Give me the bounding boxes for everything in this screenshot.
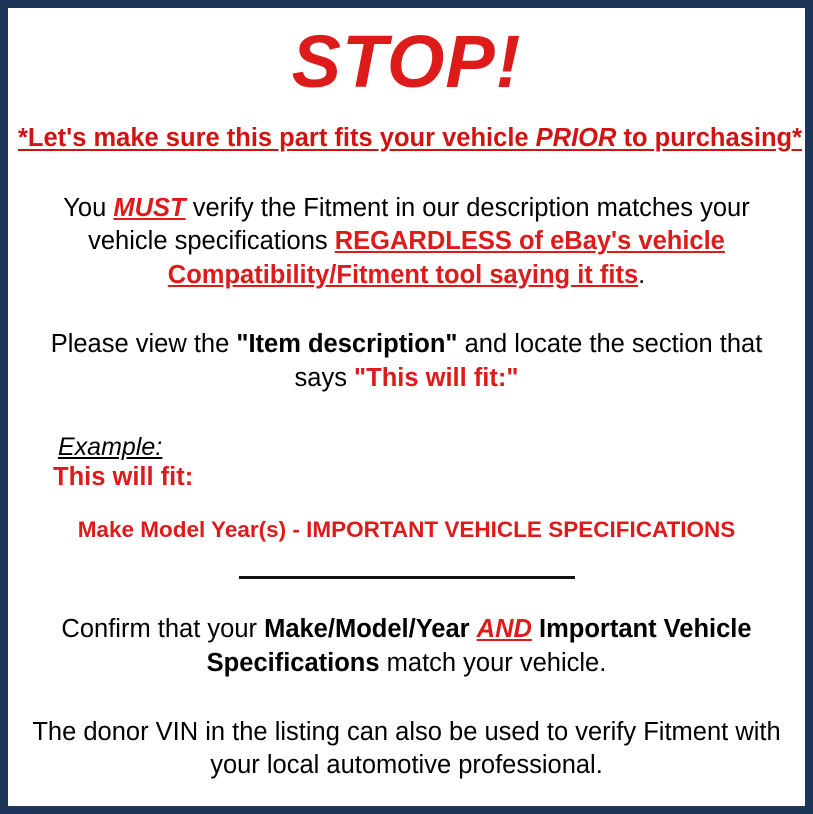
subtitle-suffix: to purchasing* [616, 124, 802, 152]
must-paragraph-period: . [638, 261, 645, 289]
page-title: STOP! [18, 8, 795, 102]
divider-wrapper [18, 543, 795, 586]
confirm-paragraph: Confirm that your Make/Model/Year AND Im… [18, 586, 795, 680]
item-description-paragraph: Please view the "Item description" and l… [18, 292, 795, 395]
donor-vin-paragraph: The donor VIN in the listing can also be… [18, 680, 795, 783]
example-block: Example: This will fit: Make Model Year(… [18, 395, 795, 543]
subtitle-prefix: *Let's make sure this part fits your veh… [18, 124, 536, 152]
item-desc-seg1: Please view the [51, 330, 237, 358]
make-model-year-bold: Make/Model/Year [264, 615, 477, 643]
item-description-quote: "Item description" [236, 330, 457, 358]
this-will-fit-quote: "This will fit:" [354, 364, 518, 392]
confirm-seg1: Confirm that your [61, 615, 264, 643]
horizontal-divider [239, 576, 575, 579]
fitment-notice-card: STOP! *Let's make sure this part fits yo… [0, 0, 813, 814]
and-keyword: AND [477, 615, 532, 643]
example-label: Example: [18, 433, 795, 463]
subtitle-emphasis: PRIOR [536, 124, 617, 152]
notice-content: STOP! *Let's make sure this part fits yo… [8, 8, 805, 806]
must-keyword: MUST [113, 194, 185, 222]
thank-you-message: Thank you for confirming Fitment! [18, 783, 795, 814]
example-this-will-fit: This will fit: [18, 462, 795, 494]
must-verify-paragraph: You MUST verify the Fitment in our descr… [18, 152, 795, 292]
must-paragraph-seg1: You [63, 194, 113, 222]
subtitle-banner: *Let's make sure this part fits your veh… [18, 102, 795, 152]
example-spec-line: Make Model Year(s) - IMPORTANT VEHICLE S… [18, 494, 795, 543]
confirm-seg5: match your vehicle. [380, 649, 607, 677]
